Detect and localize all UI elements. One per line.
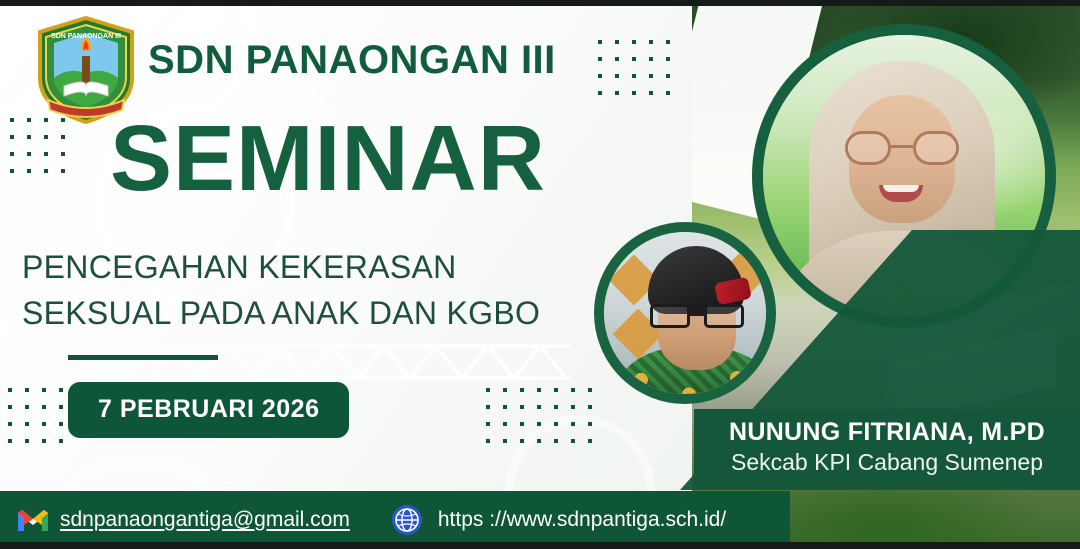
grid-dot	[649, 74, 653, 78]
grid-dot	[503, 439, 507, 443]
grid-dot	[598, 40, 602, 44]
grid-dot	[44, 135, 48, 139]
glasses-bridge	[891, 145, 913, 148]
grid-dot	[588, 422, 592, 426]
grid-dot	[10, 152, 14, 156]
seminar-poster: NUNUNG FITRIANA, M.PD Sekcab KPI Cabang …	[0, 0, 1080, 549]
grid-dot	[666, 74, 670, 78]
grid-dot	[571, 422, 575, 426]
lens-left	[845, 131, 891, 165]
website-contact[interactable]: https ://www.sdnpantiga.sch.id/	[390, 503, 726, 537]
grid-dot	[649, 40, 653, 44]
speaker-name: NUNUNG FITRIANA, M.PD	[729, 418, 1045, 447]
grid-dot	[8, 388, 12, 392]
grid-dot	[27, 135, 31, 139]
grid-dot	[25, 405, 29, 409]
gmail-icon	[16, 507, 50, 533]
grid-dot	[537, 388, 541, 392]
grid-dot	[27, 169, 31, 173]
grid-dot	[571, 405, 575, 409]
grid-dot	[59, 439, 63, 443]
grid-dot	[25, 439, 29, 443]
grid-dot	[537, 439, 541, 443]
grid-dot	[44, 152, 48, 156]
grid-dot	[486, 422, 490, 426]
grid-dot	[42, 439, 46, 443]
lens-right	[704, 304, 744, 328]
contact-footer: sdnpanaongantiga@gmail.com https ://www.…	[0, 491, 790, 549]
globe-icon	[390, 503, 424, 537]
grid-dot	[615, 40, 619, 44]
seminar-heading: SEMINAR	[110, 112, 546, 205]
date-badge: 7 PEBRUARI 2026	[68, 382, 349, 438]
grid-dot	[44, 169, 48, 173]
grid-dot	[503, 388, 507, 392]
grid-dot	[632, 91, 636, 95]
grid-dot	[666, 40, 670, 44]
zigzag-pattern	[150, 340, 570, 382]
svg-text:SDN PANAONGAN III: SDN PANAONGAN III	[51, 33, 121, 40]
grid-dot	[615, 91, 619, 95]
grid-dot	[598, 91, 602, 95]
grid-dot	[554, 388, 558, 392]
grid-dot	[666, 91, 670, 95]
website-text[interactable]: https ://www.sdnpantiga.sch.id/	[438, 508, 726, 532]
grid-dot	[42, 388, 46, 392]
grid-dot	[588, 439, 592, 443]
grid-dot	[537, 405, 541, 409]
divider-rule	[68, 355, 218, 360]
grid-dot	[615, 57, 619, 61]
glasses-bridge	[690, 313, 704, 316]
grid-dot	[598, 57, 602, 61]
grid-dot	[10, 135, 14, 139]
grid-dot	[486, 439, 490, 443]
eyeglasses-icon	[650, 304, 744, 328]
grid-dot	[59, 422, 63, 426]
grid-dot	[632, 57, 636, 61]
grid-dot	[27, 152, 31, 156]
grid-dot	[632, 40, 636, 44]
page-title: SDN PANAONGAN III	[148, 38, 556, 83]
grid-dot	[59, 388, 63, 392]
grid-dot	[8, 422, 12, 426]
grid-dot	[10, 169, 14, 173]
grid-dot	[61, 169, 65, 173]
speaker-role: Sekcab KPI Cabang Sumenep	[731, 449, 1043, 476]
lens-left	[650, 304, 690, 328]
grid-dot	[59, 405, 63, 409]
grid-dot	[520, 405, 524, 409]
seminar-subtitle: PENCEGAHAN KEKERASAN SEKSUAL PADA ANAK D…	[22, 244, 540, 337]
grid-dot	[588, 388, 592, 392]
grid-dot	[520, 388, 524, 392]
grid-dot	[503, 405, 507, 409]
grid-dot	[666, 57, 670, 61]
grid-dot	[554, 422, 558, 426]
grid-dot	[61, 152, 65, 156]
speaker-name-band: NUNUNG FITRIANA, M.PD Sekcab KPI Cabang …	[694, 409, 1080, 485]
eyeglasses-icon	[845, 131, 959, 165]
subtitle-line-2: SEKSUAL PADA ANAK DAN KGBO	[22, 290, 540, 336]
speaker-portrait-small	[594, 222, 776, 404]
grid-dot	[42, 422, 46, 426]
email-text[interactable]: sdnpanaongantiga@gmail.com	[60, 508, 350, 532]
grid-dot	[25, 388, 29, 392]
grid-dot	[42, 405, 46, 409]
grid-dot	[520, 422, 524, 426]
grid-dot	[632, 74, 636, 78]
lens-right	[913, 131, 959, 165]
grid-dot	[554, 439, 558, 443]
email-contact[interactable]: sdnpanaongantiga@gmail.com	[16, 507, 350, 533]
grid-dot	[598, 74, 602, 78]
grid-dot	[486, 405, 490, 409]
subtitle-line-1: PENCEGAHAN KEKERASAN	[22, 244, 540, 290]
grid-dot	[27, 118, 31, 122]
grid-dot	[649, 91, 653, 95]
top-edge-bar	[0, 0, 1080, 6]
grid-dot	[588, 405, 592, 409]
grid-dot	[554, 405, 558, 409]
grid-dot	[649, 57, 653, 61]
grid-dot	[486, 388, 490, 392]
grid-dot	[571, 439, 575, 443]
grid-dot	[520, 439, 524, 443]
grid-dot	[571, 388, 575, 392]
grid-dot	[503, 422, 507, 426]
bottom-edge-bar	[0, 542, 1080, 549]
grid-dot	[8, 439, 12, 443]
grid-dot	[537, 422, 541, 426]
grid-dot	[615, 74, 619, 78]
grid-dot	[8, 405, 12, 409]
grid-dot	[25, 422, 29, 426]
grid-dot	[61, 135, 65, 139]
grid-dot	[10, 118, 14, 122]
